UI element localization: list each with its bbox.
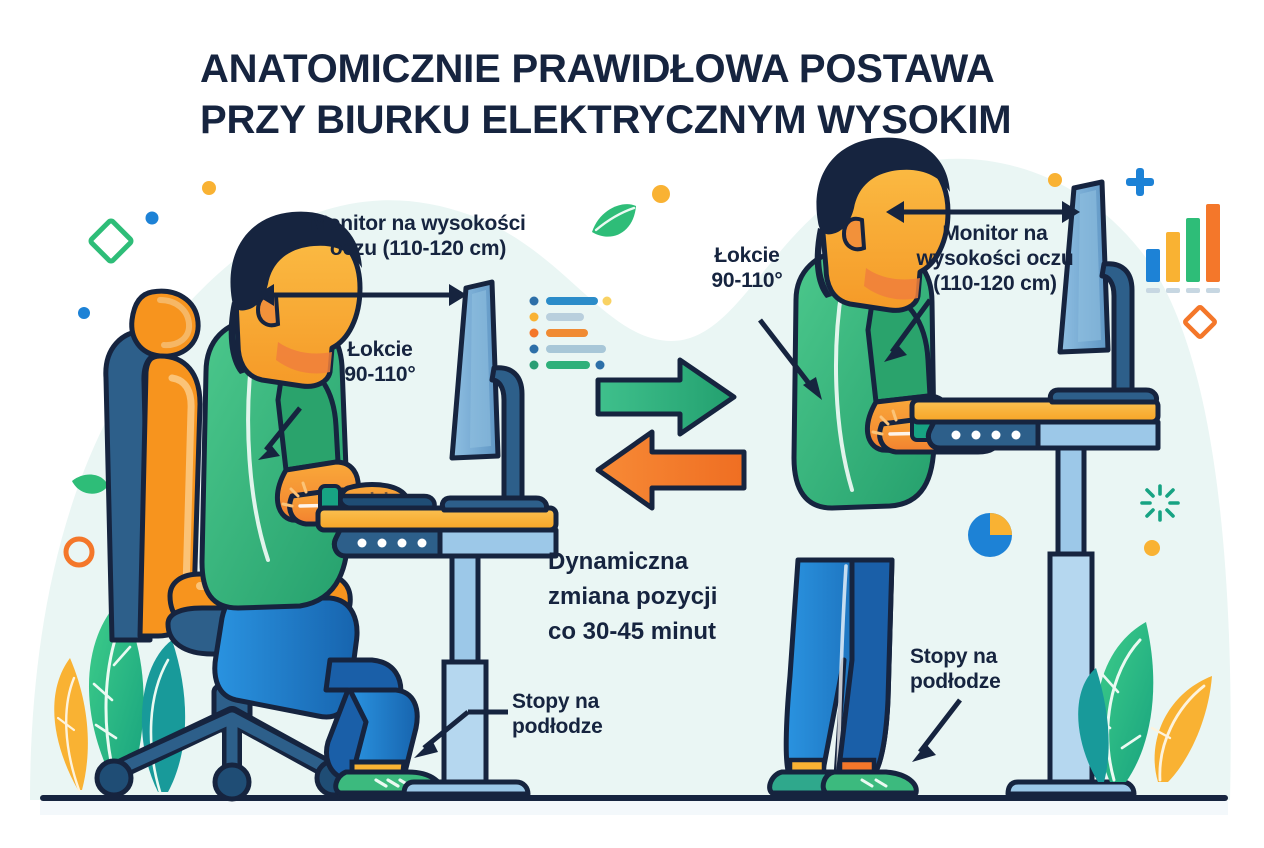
label-monitor-height-standing: Monitor na wysokości oczu (110-120 cm): [905, 222, 1085, 296]
label-feet-on-floor-seated: Stopy na podłodze: [512, 690, 672, 740]
label-elbow-angle-standing: Łokcie 90-110°: [672, 244, 822, 294]
diamond-outline-left: [90, 220, 132, 262]
floor-line: [40, 795, 1228, 815]
dot-yellow-right-2: [1144, 540, 1160, 556]
diamond-outline-right: [1184, 306, 1215, 337]
dot-yellow: [202, 181, 216, 195]
dot-blue-2: [78, 307, 90, 319]
dot-blue: [146, 212, 159, 225]
pie-chart-graphic: [968, 513, 1012, 557]
infographic-canvas: ANATOMICZNIE PRAWIDŁOWA POSTAWA PRZY BIU…: [0, 0, 1264, 848]
label-elbow-angle-seated: Łokcie 90-110°: [300, 338, 460, 388]
plus-icon: [1126, 168, 1154, 196]
label-feet-on-floor-standing: Stopy na podłodze: [910, 645, 1070, 695]
dot-yellow-center: [652, 185, 670, 203]
label-monitor-height-seated: Monitor na wysokości oczu (110-120 cm): [268, 212, 568, 262]
page-title: ANATOMICZNIE PRAWIDŁOWA POSTAWA PRZY BIU…: [200, 44, 1100, 146]
dot-yellow-right: [1048, 173, 1062, 187]
bar-chart-graphic: [1146, 204, 1220, 293]
label-dynamic-position-change: Dynamiczna zmiana pozycji co 30-45 minut: [548, 545, 778, 649]
